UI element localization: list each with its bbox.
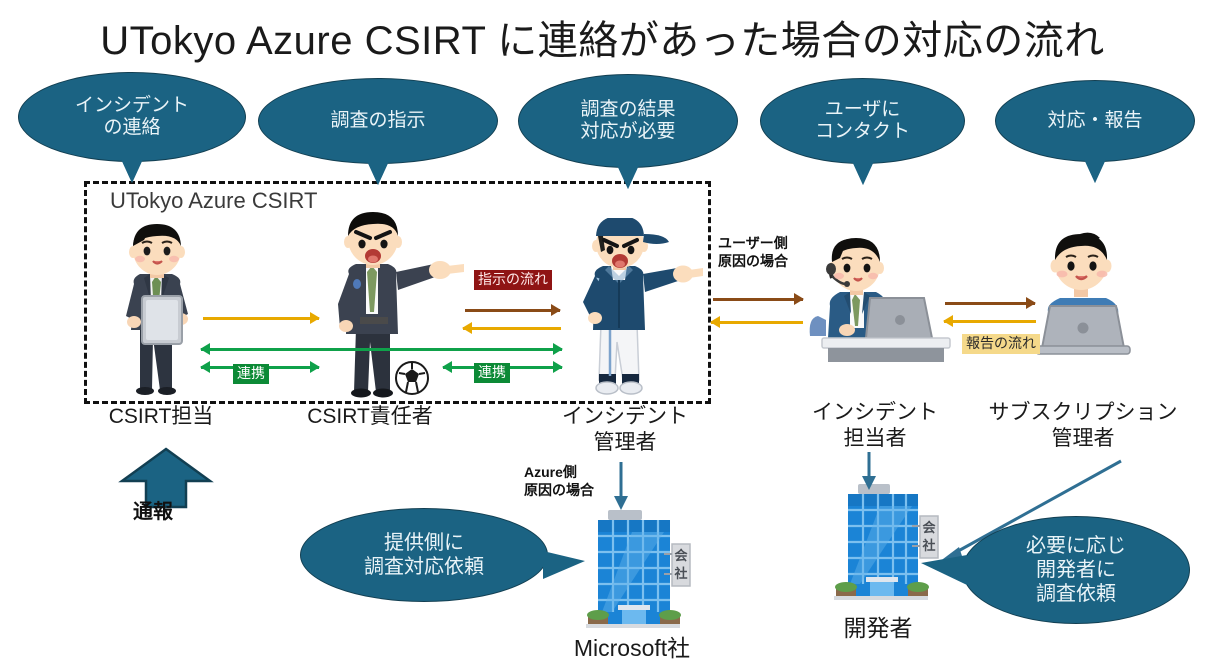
caption-line-2: 管理者 xyxy=(968,426,1198,452)
arrow-staff-to-manager-report xyxy=(203,311,319,325)
bubble-request-developer-investigation[interactable]: 必要に応じ 開発者に 調査依頼 xyxy=(962,516,1190,624)
bubble-line-2: コンタクト xyxy=(815,121,910,143)
figure-incident-admin xyxy=(565,218,705,403)
caption-incident-handler: インシデント 担当者 xyxy=(790,400,960,453)
caption-line-1: インシデント xyxy=(790,400,960,426)
bubble-tail xyxy=(543,551,585,579)
arrow-handler-to-subscription-instruction xyxy=(945,296,1035,310)
arrow-admin-to-manager-report xyxy=(463,321,561,335)
building-developer: 会 社 xyxy=(822,482,940,612)
bubble-line-2: の連絡 xyxy=(103,117,160,139)
chip-cooperation-right: 連携 xyxy=(474,363,510,383)
bubble-contact-user[interactable]: ユーザに コンタクト xyxy=(760,78,965,164)
bubble-line-3: 調査依頼 xyxy=(1036,582,1116,606)
arrow-admin-to-handler-instruction xyxy=(713,292,803,306)
bubble-line-1: 必要に応じ xyxy=(1026,534,1126,558)
building-microsoft: 会 社 xyxy=(572,508,692,638)
building-sign-line-2: 社 xyxy=(673,566,687,582)
chip-instruction-flow: 指示の流れ xyxy=(474,270,552,290)
bubble-line-1: 対応・報告 xyxy=(1047,110,1142,132)
bubble-line-2: 調査対応依頼 xyxy=(364,555,484,579)
figure-csirt-manager xyxy=(316,212,466,405)
caption-subscription-admin: サブスクリプション 管理者 xyxy=(968,400,1198,453)
caption-csirt-staff: CSIRT担当 xyxy=(96,404,226,430)
bubble-tail xyxy=(921,555,967,585)
annotation-user-cause-line-2: 原因の場合 xyxy=(718,252,788,270)
bubble-line-2: 開発者に xyxy=(1036,558,1116,582)
label-notify: 通報 xyxy=(133,495,173,524)
arrow-coop-long-to-admin xyxy=(430,342,562,356)
csirt-group-box-label: UTokyo Azure CSIRT xyxy=(110,188,317,214)
figure-csirt-staff xyxy=(104,218,214,403)
caption-line-2: 担当者 xyxy=(790,426,960,452)
annotation-azure-cause: Azure側 原因の場合 xyxy=(524,463,594,499)
bubble-tail xyxy=(617,165,639,189)
caption-line-1: CSIRT責任者 xyxy=(307,405,433,428)
annotation-azure-cause-line-2: 原因の場合 xyxy=(524,481,594,499)
bubble-line-1: 調査の指示 xyxy=(330,110,425,132)
chip-cooperation-left: 連携 xyxy=(233,364,269,384)
chip-report-flow: 報告の流れ xyxy=(962,334,1040,354)
bubble-line-1: ユーザに xyxy=(825,99,901,121)
caption-line-1: サブスクリプション xyxy=(968,400,1198,426)
bubble-respond-report[interactable]: 対応・報告 xyxy=(995,80,1195,162)
bubble-tail xyxy=(367,161,389,185)
bubble-line-1: 提供側に xyxy=(384,531,464,555)
bubble-incident-report[interactable]: インシデント の連絡 xyxy=(18,72,246,162)
caption-microsoft: Microsoft社 xyxy=(552,634,712,663)
arrow-admin-to-microsoft xyxy=(612,462,630,517)
annotation-user-cause: ユーザー側 原因の場合 xyxy=(718,234,788,270)
arrow-handler-to-admin-report xyxy=(711,315,803,329)
figure-subscription-admin xyxy=(1020,228,1160,368)
bubble-investigation-result[interactable]: 調査の結果 対応が必要 xyxy=(518,74,738,168)
caption-line-1: インシデント xyxy=(545,404,705,430)
figure-incident-handler xyxy=(800,228,960,373)
annotation-user-cause-line-1: ユーザー側 xyxy=(718,234,788,252)
arrow-subscription-to-handler-report xyxy=(944,314,1036,328)
caption-line-1: CSIRT担当 xyxy=(109,405,214,428)
bubble-request-provider-investigation[interactable]: 提供側に 調査対応依頼 xyxy=(300,508,548,602)
caption-line-2: 管理者 xyxy=(545,430,705,456)
bubble-tail xyxy=(852,161,874,185)
diagram-canvas: UTokyo Azure CSIRT に連絡があった場合の対応の流れ インシデン… xyxy=(0,0,1205,668)
bubble-tail xyxy=(121,159,143,183)
bubble-line-2: 対応が必要 xyxy=(580,121,675,143)
bubble-line-1: インシデント xyxy=(75,95,189,117)
building-sign-line-1: 会 xyxy=(674,548,688,564)
bubble-tail xyxy=(1084,159,1106,183)
arrow-manager-to-admin-instruction xyxy=(465,303,560,317)
caption-csirt-manager: CSIRT責任者 xyxy=(290,404,450,430)
bubble-line-1: 調査の結果 xyxy=(580,99,675,121)
caption-incident-admin: インシデント 管理者 xyxy=(545,404,705,457)
arrow-subscription-to-developer xyxy=(860,452,878,497)
annotation-azure-cause-line-1: Azure側 xyxy=(524,463,594,481)
caption-developer: 開発者 xyxy=(808,614,948,643)
bubble-investigation-order[interactable]: 調査の指示 xyxy=(258,78,498,164)
page-title: UTokyo Azure CSIRT に連絡があった場合の対応の流れ xyxy=(0,8,1205,66)
